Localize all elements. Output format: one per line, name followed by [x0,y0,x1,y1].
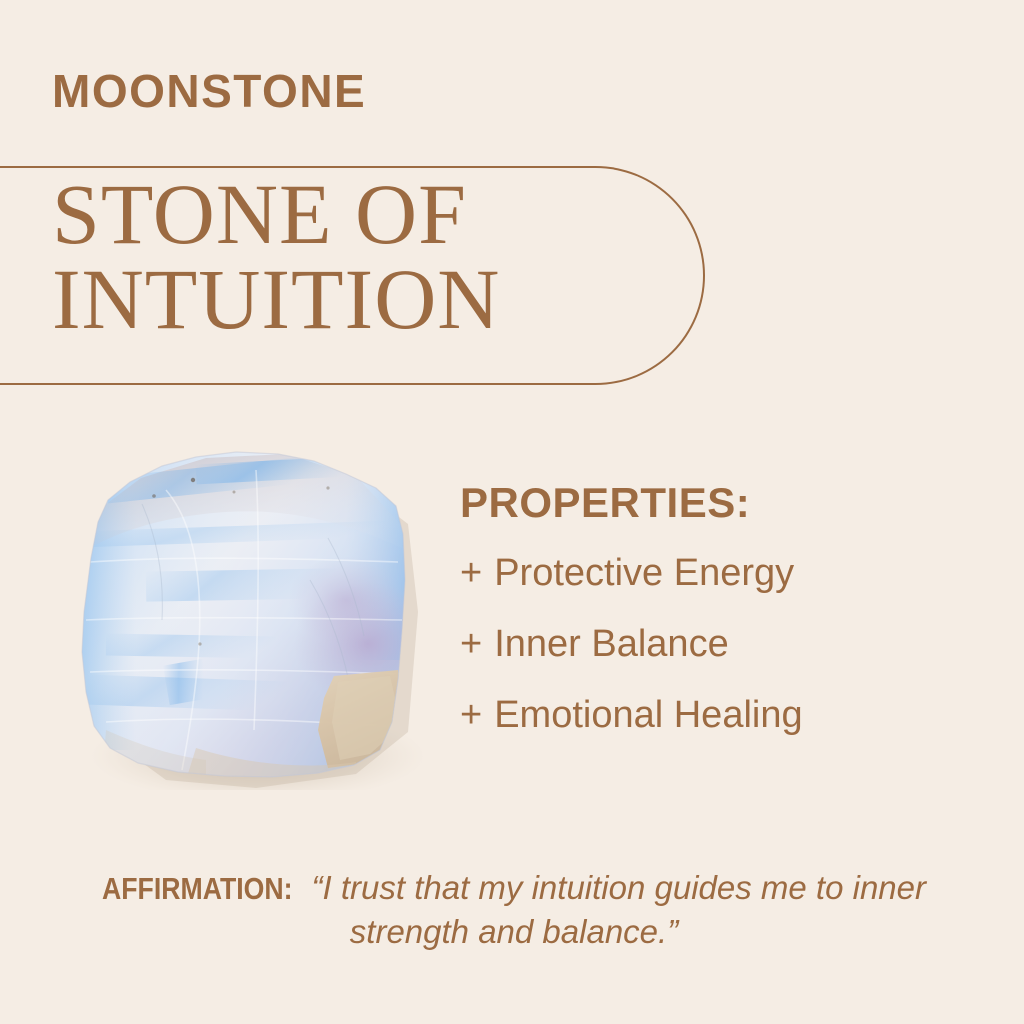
property-label: Emotional Healing [494,694,802,736]
property-item: +Protective Energy [460,554,980,592]
moonstone-image [46,430,436,790]
plus-icon: + [460,625,482,663]
affirmation-quote-line1: “I trust that my intuition guides me to … [312,869,926,906]
property-label: Inner Balance [494,623,729,665]
stone-name-heading: MOONSTONE [52,68,366,114]
property-item: +Emotional Healing [460,696,980,734]
property-label: Protective Energy [494,552,794,594]
affirmation-quote-line2: strength and balance.” [44,910,984,954]
affirmation-line-1: AFFIRMATION:“I trust that my intuition g… [44,866,984,910]
crystal-info-card: MOONSTONE STONE OF INTUITION [0,0,1024,1024]
plus-icon: + [460,696,482,734]
page-title: STONE OF INTUITION [52,172,672,342]
property-item: +Inner Balance [460,625,980,663]
affirmation-label: AFFIRMATION: [102,869,293,910]
properties-heading: PROPERTIES: [460,482,980,524]
plus-icon: + [460,554,482,592]
moonstone-slab-icon [46,430,436,790]
properties-section: PROPERTIES: +Protective Energy +Inner Ba… [460,482,980,767]
affirmation-section: AFFIRMATION:“I trust that my intuition g… [44,866,984,953]
